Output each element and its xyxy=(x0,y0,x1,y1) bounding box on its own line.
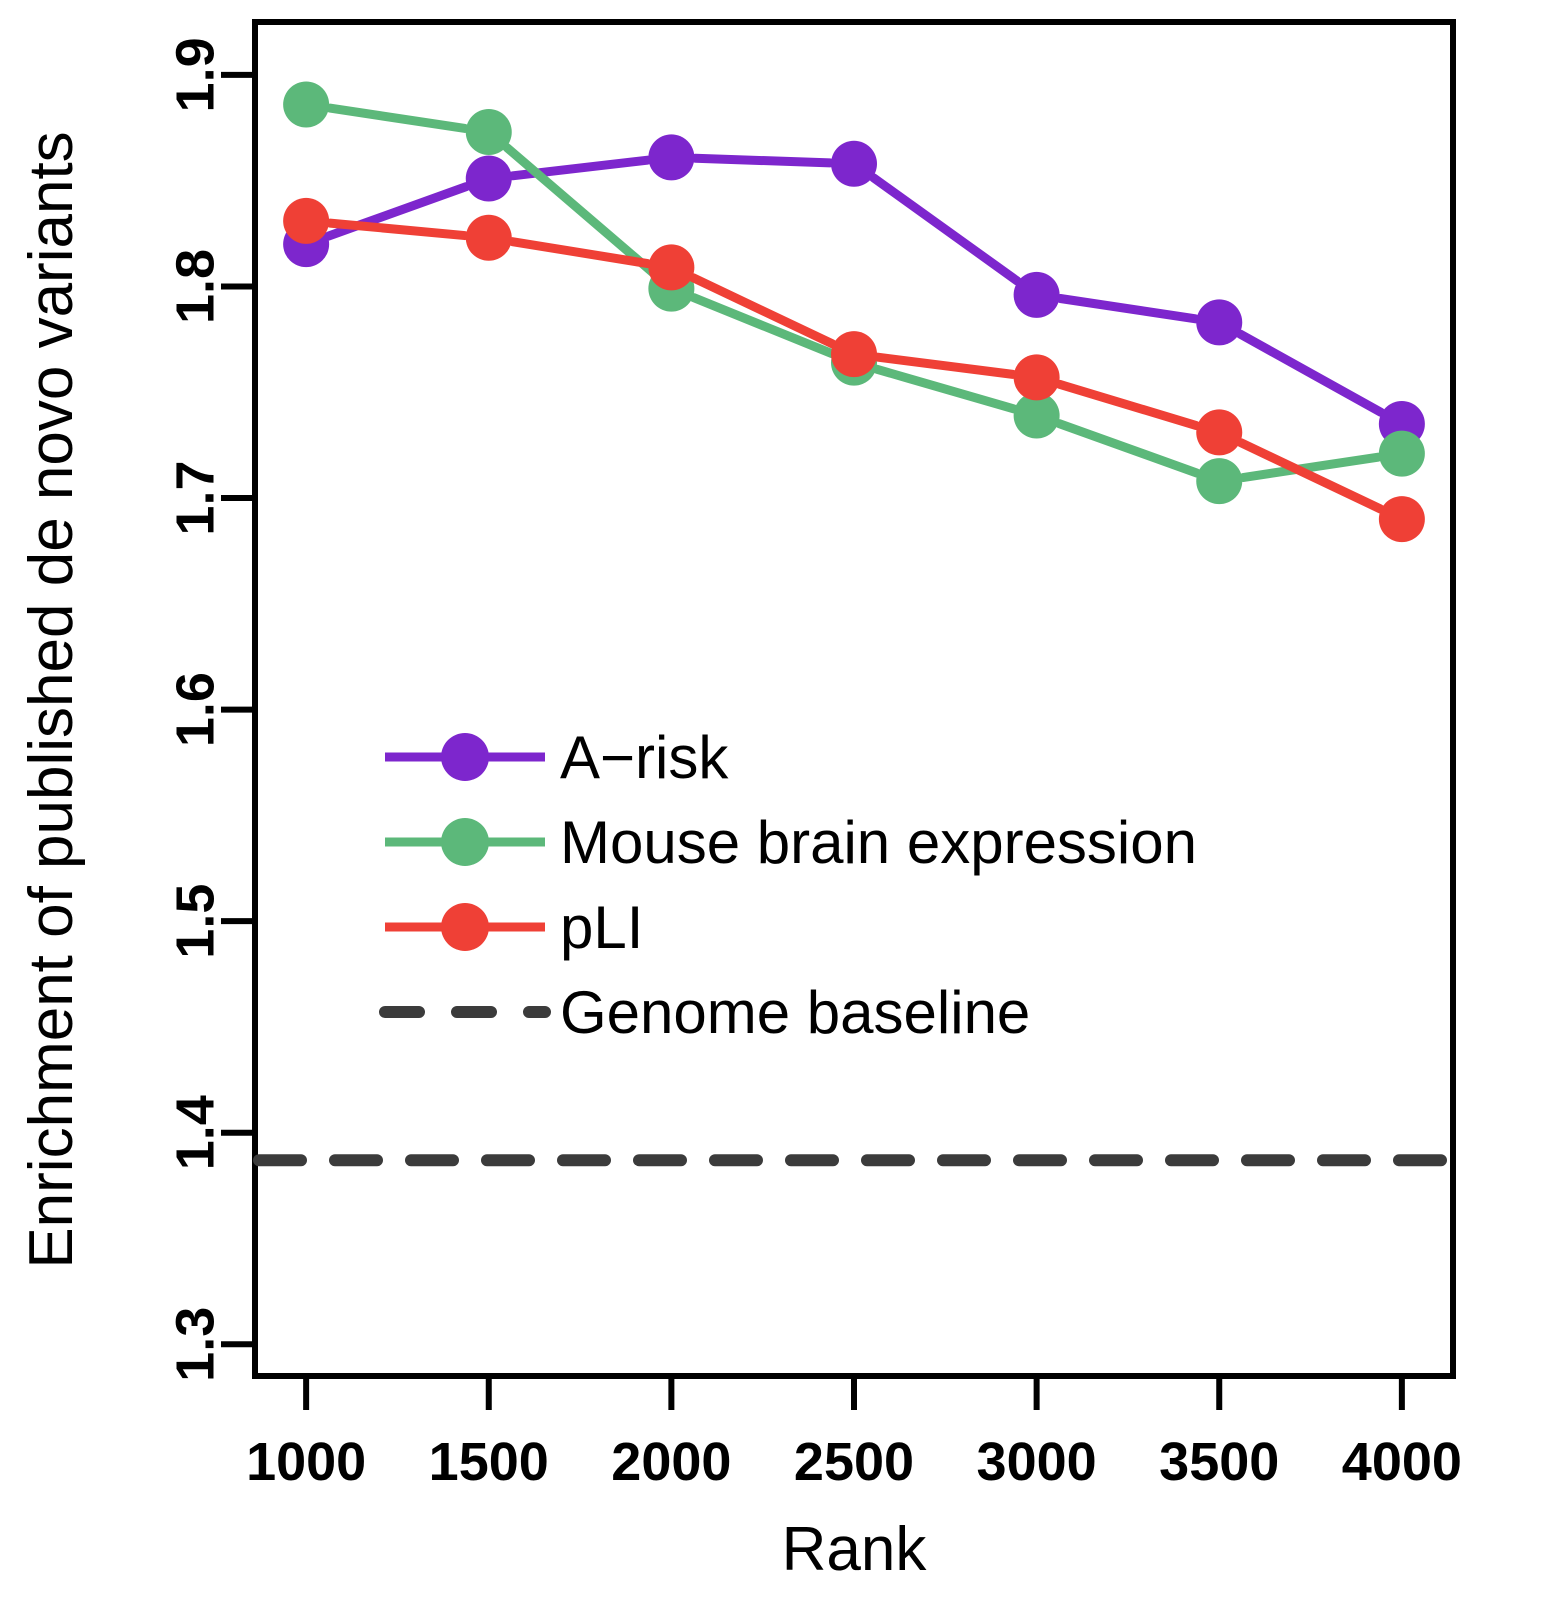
data-point-marker xyxy=(648,244,694,290)
data-point-marker xyxy=(283,82,329,128)
legend-label: pLI xyxy=(560,894,643,961)
data-point-marker xyxy=(1014,354,1060,400)
legend-label: A−risk xyxy=(560,724,729,791)
plot-frame xyxy=(255,22,1453,1376)
data-point-marker xyxy=(466,215,512,261)
data-point-marker xyxy=(1379,496,1425,542)
legend-entry-2: Mouse brain expression xyxy=(385,809,1197,876)
data-point-marker xyxy=(1196,299,1242,345)
legend-marker-swatch xyxy=(441,818,489,866)
x-axis-ticks xyxy=(306,1376,1402,1410)
y-tick-label: 1.4 xyxy=(165,1095,225,1170)
series-line-segment xyxy=(873,178,1017,281)
x-tick-label: 2500 xyxy=(794,1432,914,1492)
y-axis-title: Enrichment of published de novo variants xyxy=(17,131,86,1268)
data-point-marker xyxy=(1379,431,1425,477)
series-3 xyxy=(283,198,1425,542)
data-point-marker xyxy=(466,109,512,155)
y-tick-label: 1.6 xyxy=(165,672,225,747)
legend-marker-swatch xyxy=(441,733,489,781)
series-line-segment xyxy=(1059,424,1196,473)
legend-entry-4: Genome baseline xyxy=(385,979,1030,1046)
y-tick-label: 1.9 xyxy=(165,37,225,112)
data-point-marker xyxy=(1196,409,1242,455)
chart-figure: 1.31.41.51.61.71.81.9 100015002000250030… xyxy=(0,0,1554,1602)
x-axis-tick-labels: 1000150020002500300035004000 xyxy=(246,1432,1462,1492)
series-line-segment xyxy=(1240,334,1381,412)
chart-legend: A−riskMouse brain expressionpLIGenome ba… xyxy=(385,724,1197,1046)
data-point-marker xyxy=(283,198,329,244)
enrichment-line-chart: 1.31.41.51.61.71.81.9 100015002000250030… xyxy=(0,0,1554,1602)
y-axis-tick-labels: 1.31.41.51.61.71.81.9 xyxy=(165,37,225,1381)
series-1 xyxy=(283,134,1425,447)
legend-label: Genome baseline xyxy=(560,979,1030,1046)
y-tick-label: 1.7 xyxy=(165,460,225,535)
data-point-marker xyxy=(831,141,877,187)
series-line-segment xyxy=(330,108,465,128)
y-axis-ticks xyxy=(221,75,255,1344)
y-tick-label: 1.3 xyxy=(165,1307,225,1382)
y-tick-label: 1.5 xyxy=(165,884,225,959)
x-tick-label: 3500 xyxy=(1159,1432,1279,1492)
y-tick-label: 1.8 xyxy=(165,249,225,324)
x-tick-label: 1500 xyxy=(429,1432,549,1492)
series-layer xyxy=(283,82,1425,543)
x-tick-label: 4000 xyxy=(1342,1432,1462,1492)
data-point-marker xyxy=(648,134,694,180)
series-line-segment xyxy=(1060,298,1195,318)
x-tick-label: 3000 xyxy=(977,1432,1097,1492)
data-point-marker xyxy=(1196,458,1242,504)
legend-entry-3: pLI xyxy=(385,894,643,961)
x-tick-label: 1000 xyxy=(246,1432,366,1492)
legend-label: Mouse brain expression xyxy=(560,809,1197,876)
series-line-segment xyxy=(330,223,465,235)
data-point-marker xyxy=(1014,272,1060,318)
series-line-segment xyxy=(1060,384,1197,425)
series-line-segment xyxy=(693,278,832,344)
data-point-marker xyxy=(466,156,512,202)
legend-entry-1: A−risk xyxy=(385,724,729,791)
legend-marker-swatch xyxy=(441,903,489,951)
x-tick-label: 2000 xyxy=(611,1432,731,1492)
x-axis-title: Rank xyxy=(782,1515,928,1584)
series-line-segment xyxy=(695,158,830,163)
data-point-marker xyxy=(831,331,877,377)
